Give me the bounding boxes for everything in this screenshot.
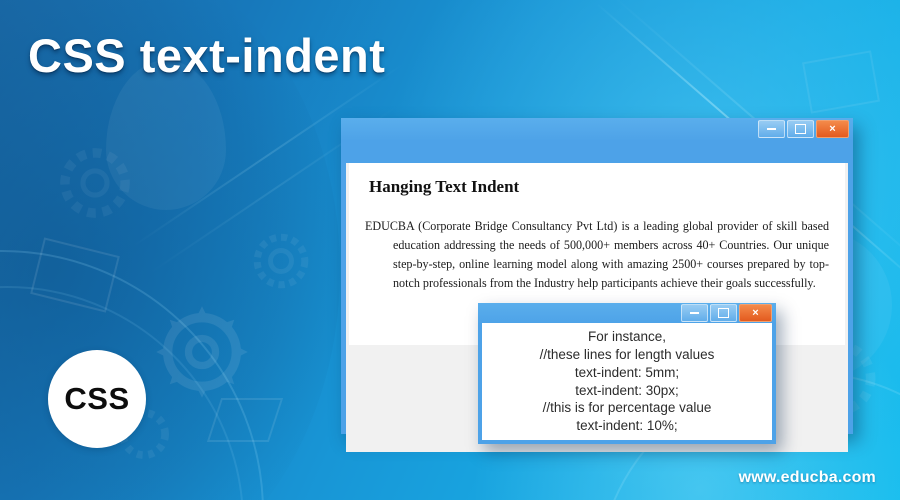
- css-badge-label: CSS: [64, 381, 129, 417]
- decorative-shape: [207, 398, 283, 442]
- close-button[interactable]: ×: [816, 120, 849, 138]
- code-line: text-indent: 5mm;: [540, 364, 715, 382]
- code-line: text-indent: 30px;: [540, 382, 715, 400]
- maximize-icon: [795, 124, 806, 134]
- code-line: //these lines for length values: [540, 346, 715, 364]
- gear-icon: [150, 300, 254, 404]
- slide-canvas: CSS text-indent × Hanging Text Indent ED…: [0, 0, 900, 500]
- gear-icon: [52, 140, 138, 226]
- maximize-icon: [718, 308, 729, 318]
- maximize-button[interactable]: [710, 304, 737, 322]
- code-window-titlebar[interactable]: ×: [478, 303, 776, 323]
- close-icon: ×: [752, 308, 758, 319]
- close-button[interactable]: ×: [739, 304, 772, 322]
- document-window-titlebar[interactable]: ×: [341, 118, 853, 140]
- gear-icon: [246, 226, 316, 296]
- document-heading: Hanging Text Indent: [369, 177, 829, 197]
- code-line: text-indent: 10%;: [540, 417, 715, 435]
- code-line: For instance,: [540, 328, 715, 346]
- code-window-canvas: For instance, //these lines for length v…: [482, 323, 772, 440]
- code-snippet: For instance, //these lines for length v…: [540, 328, 715, 435]
- minimize-button[interactable]: [681, 304, 708, 322]
- code-line: //this is for percentage value: [540, 399, 715, 417]
- page-title: CSS text-indent: [28, 28, 385, 83]
- close-icon: ×: [829, 124, 835, 135]
- footer-url: www.educba.com: [739, 469, 876, 487]
- maximize-button[interactable]: [787, 120, 814, 138]
- minimize-button[interactable]: [758, 120, 785, 138]
- document-paragraph: EDUCBA (Corporate Bridge Consultancy Pvt…: [365, 217, 829, 293]
- minimize-icon: [767, 128, 776, 130]
- minimize-icon: [690, 312, 699, 314]
- code-window[interactable]: × For instance, //these lines for length…: [478, 303, 776, 444]
- decorative-shape: [802, 50, 880, 113]
- decorative-shape: [30, 237, 120, 312]
- css-badge: CSS: [48, 350, 146, 448]
